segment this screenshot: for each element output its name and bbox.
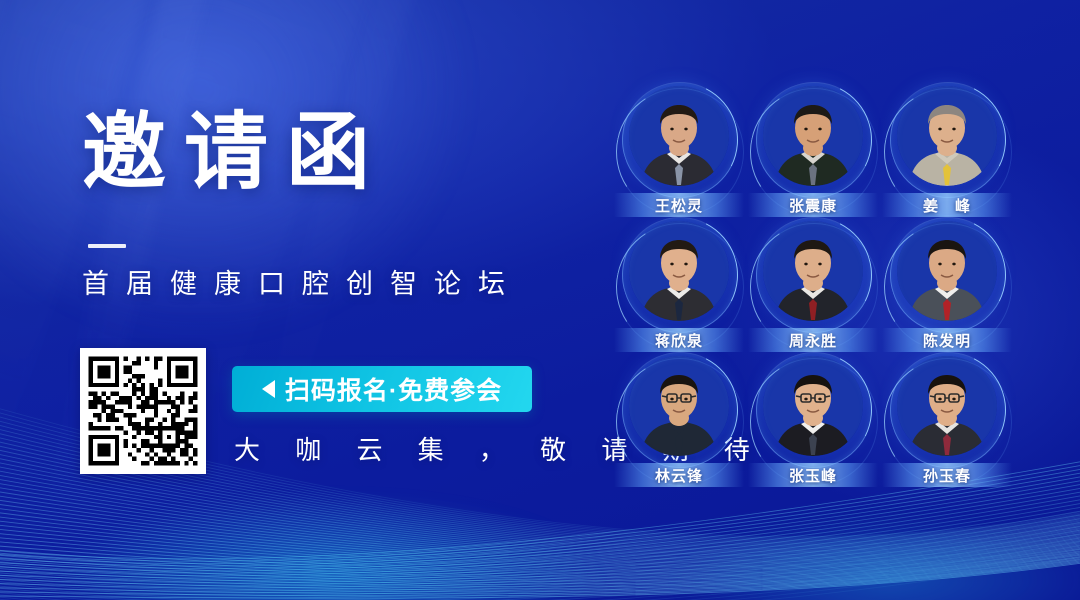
speaker-card[interactable]: 孙玉春 bbox=[880, 356, 1014, 491]
speaker-name-plate: 张震康 bbox=[748, 193, 878, 217]
speaker-name: 张玉峰 bbox=[789, 465, 837, 486]
speaker-name-plate: 林云锋 bbox=[614, 463, 744, 487]
invitation-poster: 邀请函 首届健康口腔创智论坛 扫码报名·免费参会 大 咖 云 集 ， 敬 请 期… bbox=[0, 0, 1080, 600]
speaker-name-plate: 孙玉春 bbox=[882, 463, 1012, 487]
speaker-name-plate: 姜 峰 bbox=[882, 193, 1012, 217]
speaker-card[interactable]: 张玉峰 bbox=[746, 356, 880, 491]
speaker-name-plate: 蒋欣泉 bbox=[614, 328, 744, 352]
speaker-card[interactable]: 周永胜 bbox=[746, 221, 880, 356]
speaker-name: 林云锋 bbox=[655, 465, 703, 486]
speaker-name: 张震康 bbox=[789, 195, 837, 216]
speaker-card[interactable]: 蒋欣泉 bbox=[612, 221, 746, 356]
event-subtitle: 首届健康口腔创智论坛 bbox=[82, 266, 522, 302]
speaker-name-plate: 张玉峰 bbox=[748, 463, 878, 487]
qr-code[interactable] bbox=[80, 348, 206, 474]
speaker-name: 周永胜 bbox=[789, 330, 837, 351]
speaker-name: 姜 峰 bbox=[923, 195, 971, 216]
speaker-grid: 王松灵张震康姜 峰蒋欣泉周永胜陈发明林云锋张玉峰孙玉春 bbox=[612, 86, 1032, 496]
speaker-name-plate: 王松灵 bbox=[614, 193, 744, 217]
speaker-name-plate: 陈发明 bbox=[882, 328, 1012, 352]
left-content: 邀请函 首届健康口腔创智论坛 扫码报名·免费参会 大 咖 云 集 ， 敬 请 期… bbox=[0, 0, 600, 600]
triangle-left-icon bbox=[262, 380, 275, 398]
speaker-name: 王松灵 bbox=[655, 195, 703, 216]
page-title: 邀请函 bbox=[82, 104, 388, 200]
speaker-card[interactable]: 张震康 bbox=[746, 86, 880, 221]
speaker-name: 蒋欣泉 bbox=[655, 330, 703, 351]
title-divider bbox=[88, 244, 126, 248]
register-cta-label: 扫码报名·免费参会 bbox=[285, 371, 502, 407]
speaker-card[interactable]: 林云锋 bbox=[612, 356, 746, 491]
speaker-card[interactable]: 陈发明 bbox=[880, 221, 1014, 356]
speaker-card[interactable]: 姜 峰 bbox=[880, 86, 1014, 221]
speaker-card[interactable]: 王松灵 bbox=[612, 86, 746, 221]
speaker-name: 孙玉春 bbox=[923, 465, 971, 486]
speaker-name: 陈发明 bbox=[923, 330, 971, 351]
register-cta-button[interactable]: 扫码报名·免费参会 bbox=[232, 366, 532, 412]
speaker-name-plate: 周永胜 bbox=[748, 328, 878, 352]
